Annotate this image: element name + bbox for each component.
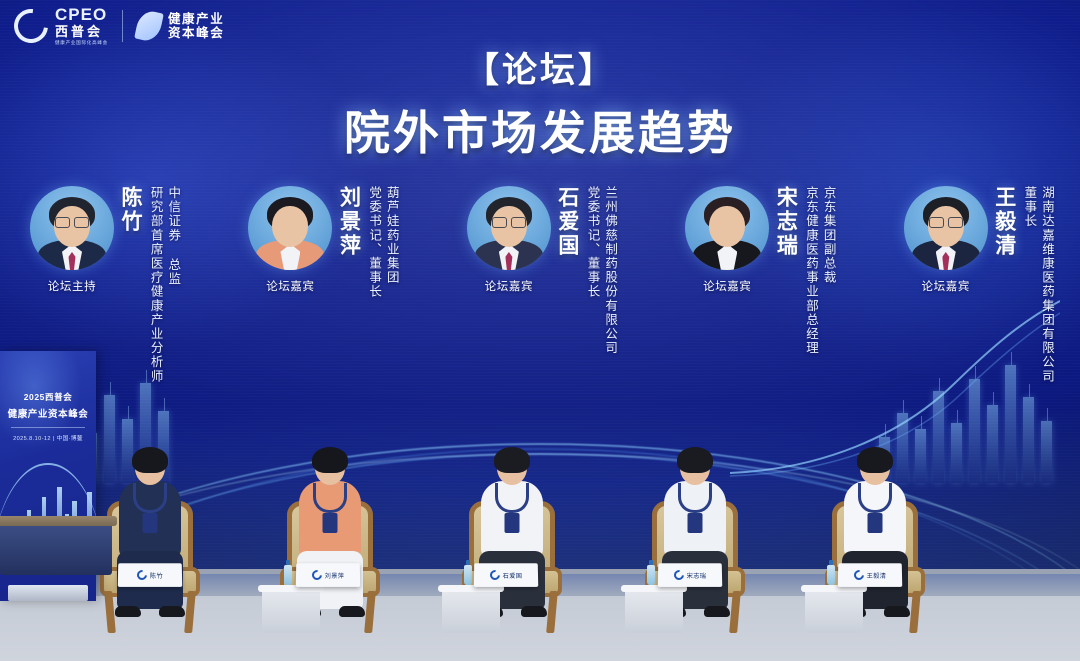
cpeo-logo-en: CPEO: [55, 6, 108, 23]
plate-ring-icon: [672, 568, 686, 582]
panelist-portrait: [904, 186, 988, 270]
panelist-card: 论坛嘉宾刘景萍葫芦娃药业集团党委书记、董事长: [244, 186, 398, 426]
panelist-org-line: 党委书记、董事长: [584, 186, 600, 355]
plate-ring-icon: [310, 568, 324, 582]
panelist-name: 刘景萍: [338, 186, 359, 258]
name-badge: [868, 513, 883, 533]
side-table: [442, 585, 500, 633]
panelist-org-line: 董事长: [1021, 186, 1037, 383]
conference-stage-scene: CPEO 西普会 健康产业国际化高峰会 健康产业 资本峰会 【论坛】 院外市场发…: [0, 0, 1080, 661]
plate-ring-icon: [135, 568, 149, 582]
name-badge: [505, 513, 520, 533]
podium-top-surface: [0, 516, 117, 526]
panelist-org-titles: 湖南达嘉维康医药集团有限公司董事长: [1019, 186, 1054, 383]
forum-title-line2: 院外市场发展趋势: [0, 97, 1080, 163]
water-bottle: [464, 565, 472, 585]
speaker-podium: [0, 523, 112, 575]
panelist-org-line: 京东健康医药事业部总经理: [802, 186, 818, 355]
glasses-icon: [492, 217, 526, 226]
forum-title-block: 【论坛】 院外市场发展趋势: [0, 42, 1080, 163]
water-bottle: [827, 565, 835, 585]
panelist-name: 石爱国: [557, 186, 578, 258]
panelist-role: 论坛嘉宾: [703, 278, 751, 294]
plate-name-text: 刘景萍: [325, 571, 345, 580]
panelist-seat: [96, 433, 204, 633]
name-badge: [688, 513, 703, 533]
panelist-org-line: 葫芦娃药业集团: [383, 186, 399, 299]
panelist-name: 陈竹: [120, 186, 141, 234]
plate-ring-icon: [488, 568, 502, 582]
glasses-icon: [55, 217, 89, 226]
side-table: [262, 585, 320, 633]
name-badge: [323, 513, 338, 533]
name-plate: 宋志瑞: [658, 563, 723, 587]
name-badge: [143, 513, 158, 533]
panelist-org-line: 兰州佛慈制药股份有限公司: [602, 186, 618, 355]
panelist-role: 论坛嘉宾: [922, 278, 970, 294]
panelist-card-row: 论坛主持陈竹中信证券 总监研究部首席医疗健康产业分析师论坛嘉宾刘景萍葫芦娃药业集…: [0, 186, 1080, 426]
cpeo-logo: CPEO 西普会 健康产业国际化高峰会: [14, 6, 108, 46]
panelist-org-titles: 葫芦娃药业集团党委书记、董事长: [363, 186, 398, 299]
panelist-org-line: 研究部首席医疗健康产业分析师: [147, 186, 163, 383]
name-plate: 陈竹: [118, 563, 183, 587]
water-bottle: [647, 565, 655, 585]
side-table: [805, 585, 863, 633]
plate-name-text: 陈竹: [150, 571, 163, 580]
panelist-portrait: [467, 186, 551, 270]
plate-ring-icon: [852, 568, 866, 582]
logo-divider: [122, 10, 123, 42]
glasses-icon: [929, 217, 963, 226]
header-logo-bar: CPEO 西普会 健康产业国际化高峰会 健康产业 资本峰会: [0, 0, 240, 55]
summit-logo-line1: 健康产业: [168, 12, 224, 26]
panelist-card: 论坛嘉宾石爱国兰州佛慈制药股份有限公司党委书记、董事长: [463, 186, 617, 426]
leaf-logo-icon: [137, 11, 161, 41]
panelist-org-line: 湖南达嘉维康医药集团有限公司: [1038, 186, 1054, 383]
panelist-role: 论坛嘉宾: [266, 278, 314, 294]
panelist-portrait: [248, 186, 332, 270]
panelist-org-line: 党委书记、董事长: [365, 186, 381, 299]
panelist-portrait: [30, 186, 114, 270]
panelist-card: 论坛嘉宾王毅清湖南达嘉维康医药集团有限公司董事长: [900, 186, 1054, 426]
name-plate: 刘景萍: [296, 563, 361, 587]
panelist-role: 论坛嘉宾: [485, 278, 533, 294]
ring-logo-icon: [7, 2, 55, 50]
summit-logo: 健康产业 资本峰会: [137, 11, 224, 41]
panelist-role: 论坛主持: [48, 278, 96, 294]
name-plate: 王毅清: [838, 563, 903, 587]
rollup-banner-base: [8, 585, 88, 601]
rollup-banner-date: 2025.8.10-12 | 中国·博鳌: [0, 434, 96, 442]
panelist-org-line: 京东集团副总裁: [820, 186, 836, 355]
seated-person: [104, 451, 196, 619]
summit-logo-line2: 资本峰会: [168, 26, 224, 40]
panelist-org-titles: 京东集团副总裁京东健康医药事业部总经理: [800, 186, 835, 355]
rollup-banner-line1: 2025西普会: [0, 391, 96, 403]
cpeo-logo-cn: 西普会: [55, 25, 108, 38]
rollup-banner-line2: 健康产业资本峰会: [0, 406, 96, 420]
plate-name-text: 王毅清: [867, 571, 887, 580]
water-bottle: [284, 565, 292, 585]
panelist-portrait: [685, 186, 769, 270]
panelist-card: 论坛嘉宾宋志瑞京东集团副总裁京东健康医药事业部总经理: [681, 186, 835, 426]
plate-name-text: 宋志瑞: [687, 571, 707, 580]
cpeo-logo-sub: 健康产业国际化高峰会: [55, 41, 108, 46]
panelist-name: 王毅清: [994, 186, 1015, 258]
plate-name-text: 石爱国: [503, 571, 523, 580]
panelist-org-titles: 中信证券 总监研究部首席医疗健康产业分析师: [145, 186, 180, 383]
panelist-name: 宋志瑞: [775, 186, 796, 258]
panelist-org-line: 中信证券 总监: [165, 186, 181, 383]
panelist-org-titles: 兰州佛慈制药股份有限公司党委书记、董事长: [582, 186, 617, 355]
name-plate: 石爱国: [474, 563, 539, 587]
side-table: [625, 585, 683, 633]
